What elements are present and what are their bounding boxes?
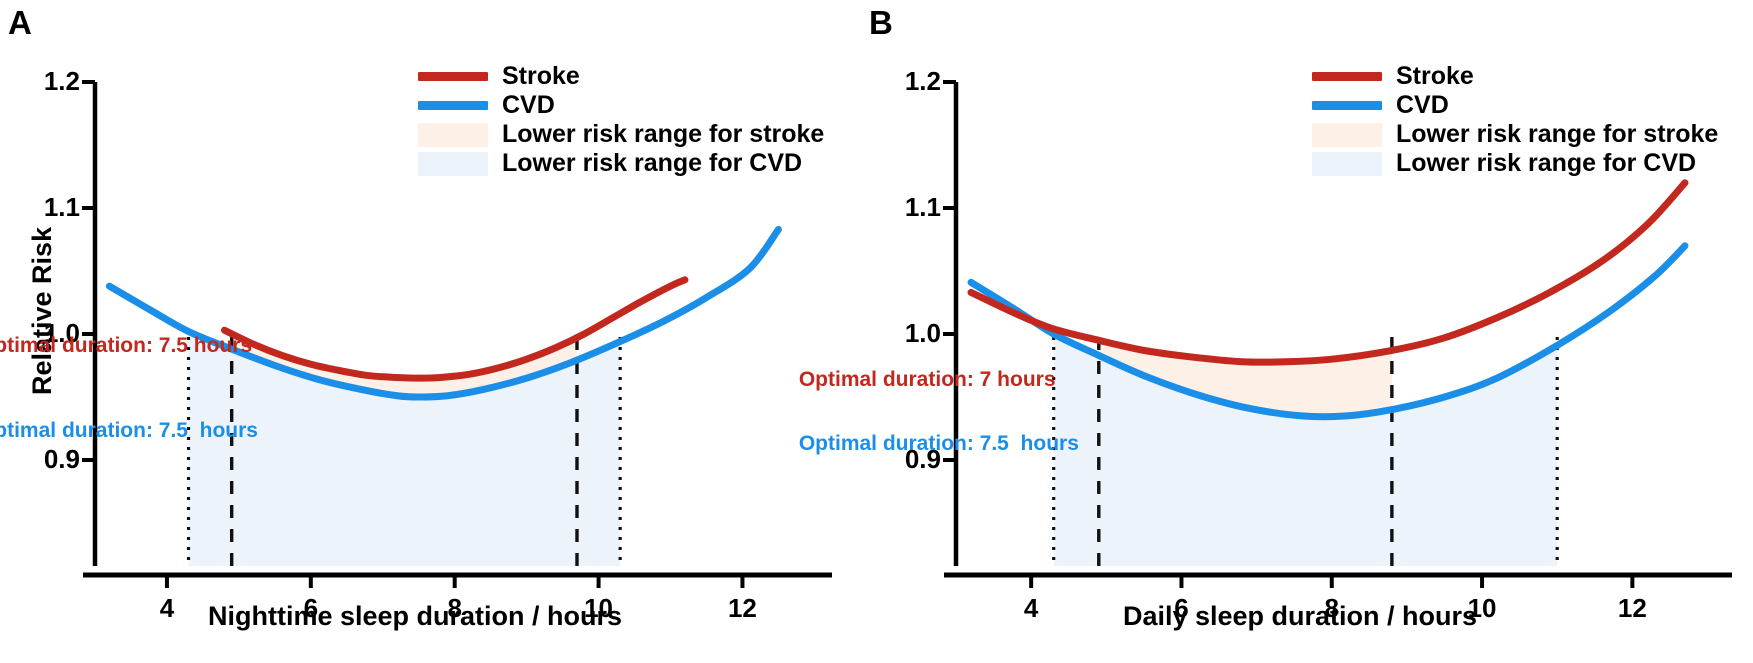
y-tick-label: 1.2: [851, 66, 941, 97]
x-tick-label: 8: [1292, 593, 1372, 624]
x-tick-label: 4: [127, 593, 207, 624]
y-tick-label: 1.1: [851, 192, 941, 223]
legend-item-cvd: CVD: [1312, 91, 1718, 120]
legend-label: Lower risk range for CVD: [502, 151, 802, 176]
optimal-duration-annotation-stroke: Optimal duration: 7 hours: [799, 369, 1056, 390]
panel-b: B Relative Risk Daily sleep duration / h…: [860, 0, 1753, 663]
legend-item-lower-risk-range-for-cvd: Lower risk range for CVD: [418, 149, 824, 178]
legend-label: Lower risk range for stroke: [1396, 122, 1718, 147]
optimal-duration-annotation-cvd: Optimal duration: 7.5 hours: [799, 433, 1079, 454]
legend-item-lower-risk-range-for-stroke: Lower risk range for stroke: [418, 120, 824, 149]
legend-item-stroke: Stroke: [1312, 62, 1718, 91]
legend-item-cvd: CVD: [418, 91, 824, 120]
optimal-duration-annotation-stroke: Optimal duration: 7.5 hours: [0, 335, 252, 356]
y-tick-label: 1.2: [0, 66, 80, 97]
legend-item-lower-risk-range-for-cvd: Lower risk range for CVD: [1312, 149, 1718, 178]
y-tick-label: 1.1: [0, 192, 80, 223]
legend-area-swatch: [418, 123, 488, 147]
x-tick-label: 10: [559, 593, 639, 624]
legend-line-swatch: [418, 72, 488, 81]
legend-line-swatch: [1312, 101, 1382, 110]
panel-a: A Relative Risk Nighttime sleep duration…: [0, 0, 860, 663]
legend-label: CVD: [502, 93, 555, 118]
legend-area-swatch: [1312, 152, 1382, 176]
x-tick-label: 6: [1141, 593, 1221, 624]
legend-line-swatch: [418, 101, 488, 110]
y-tick-label: 1.0: [851, 318, 941, 349]
panel-b-legend: StrokeCVDLower risk range for strokeLowe…: [1312, 62, 1718, 178]
panel-a-y-axis-title: Relative Risk: [27, 227, 58, 395]
x-tick-label: 8: [415, 593, 495, 624]
x-tick-label: 12: [1592, 593, 1672, 624]
optimal-duration-annotation-cvd: Optimal duration: 7.5 hours: [0, 420, 258, 441]
legend-line-swatch: [1312, 72, 1382, 81]
y-tick-label: 0.9: [0, 444, 80, 475]
figure-root: A Relative Risk Nighttime sleep duration…: [0, 0, 1753, 663]
x-tick-label: 4: [991, 593, 1071, 624]
panel-b-y-axis-title: Relative Risk: [1749, 227, 1753, 395]
x-tick-label: 12: [702, 593, 782, 624]
legend-label: Stroke: [1396, 64, 1474, 89]
x-tick-label: 10: [1442, 593, 1522, 624]
legend-item-stroke: Stroke: [418, 62, 824, 91]
x-tick-label: 6: [271, 593, 351, 624]
legend-label: Stroke: [502, 64, 580, 89]
legend-item-lower-risk-range-for-stroke: Lower risk range for stroke: [1312, 120, 1718, 149]
legend-area-swatch: [1312, 123, 1382, 147]
legend-label: Lower risk range for CVD: [1396, 151, 1696, 176]
legend-label: CVD: [1396, 93, 1449, 118]
panel-a-legend: StrokeCVDLower risk range for strokeLowe…: [418, 62, 824, 178]
legend-area-swatch: [418, 152, 488, 176]
legend-label: Lower risk range for stroke: [502, 122, 824, 147]
